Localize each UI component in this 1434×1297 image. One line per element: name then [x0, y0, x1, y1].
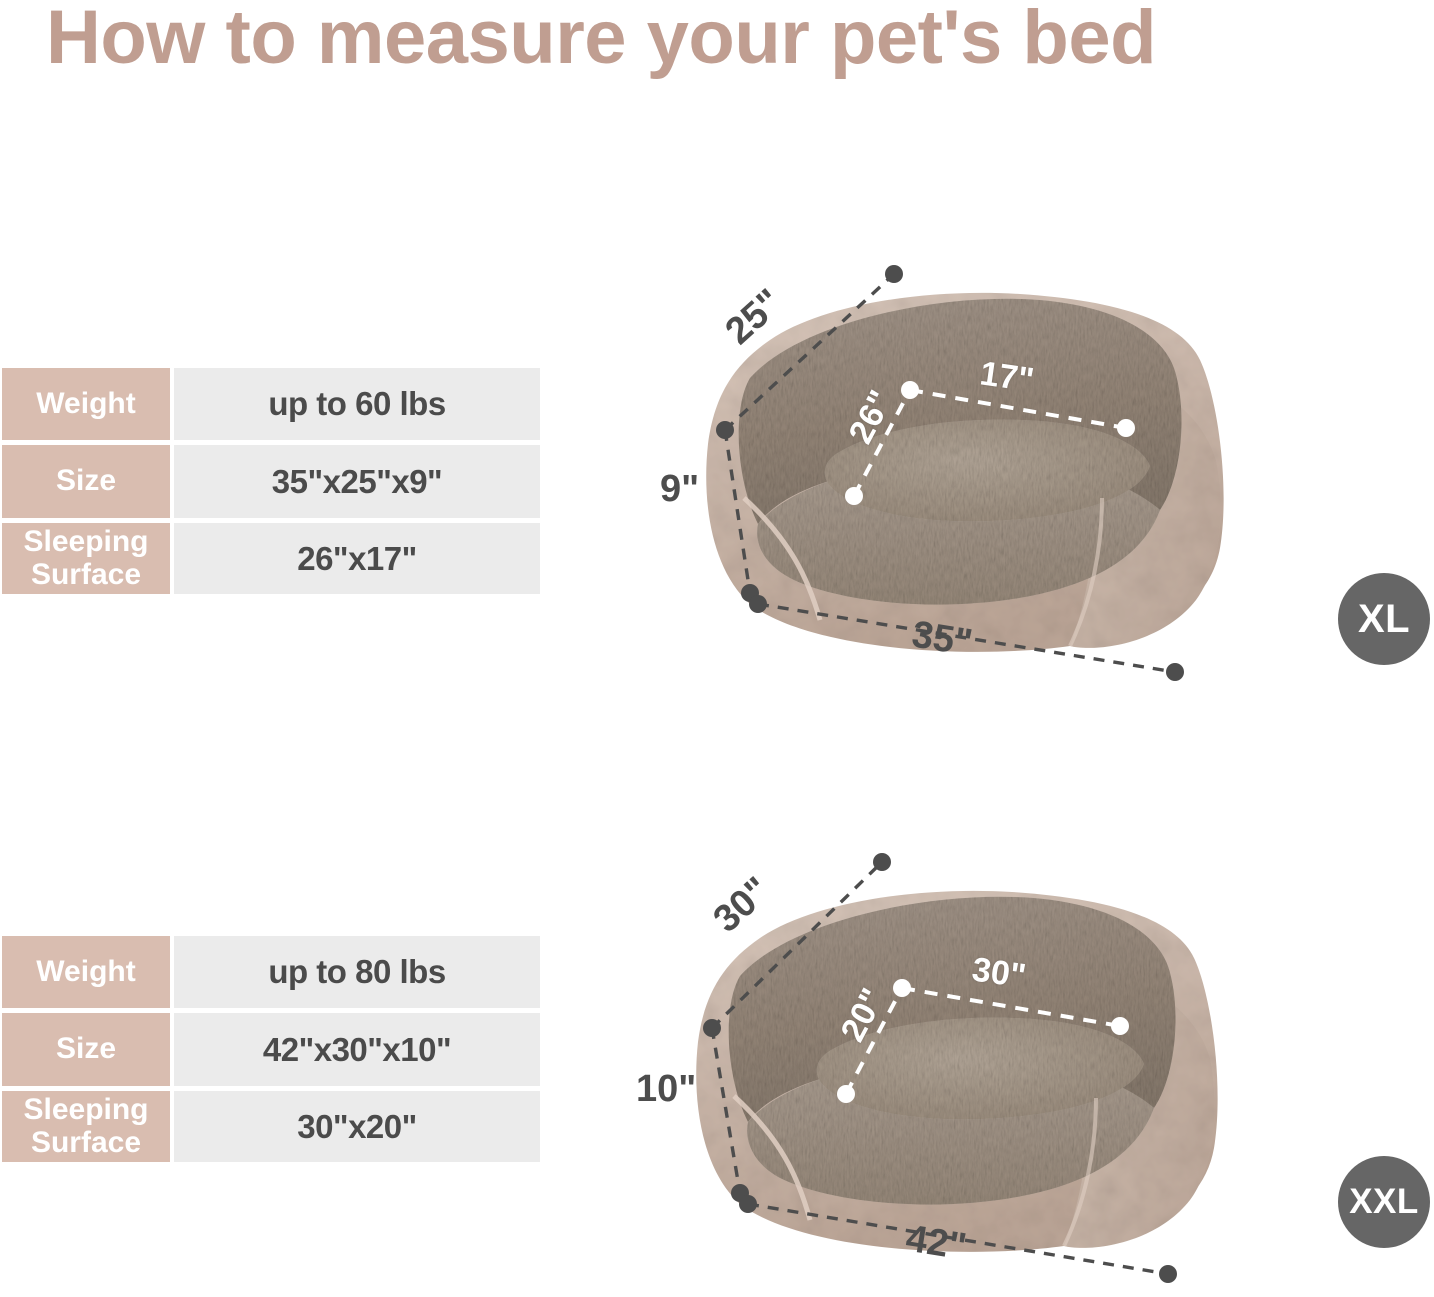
- bed-illustration-xxl: 30" 10" 42" 20" 30": [620, 838, 1300, 1288]
- row-label-size: Size: [2, 1013, 170, 1086]
- row-label-size: Size: [2, 445, 170, 518]
- row-value-sleeping-surface: 26"x17": [174, 523, 540, 594]
- row-label-weight: Weight: [2, 368, 170, 440]
- row-label-weight: Weight: [2, 936, 170, 1008]
- table-row: Weight up to 60 lbs: [2, 368, 540, 440]
- row-label-sleeping-surface: Sleeping Surface: [2, 1091, 170, 1162]
- page-title: How to measure your pet's bed: [46, 0, 1156, 80]
- table-row: Weight up to 80 lbs: [2, 936, 540, 1008]
- dimension-label-height: 9": [660, 470, 699, 508]
- dimension-label-height: 10": [636, 1070, 696, 1108]
- table-row: Size 42"x30"x10": [2, 1013, 540, 1086]
- size-badge-xxl: XXL: [1338, 1156, 1430, 1248]
- row-value-weight: up to 80 lbs: [174, 936, 540, 1008]
- dimension-label-width: 42": [903, 1220, 968, 1267]
- spec-table-xl: Weight up to 60 lbs Size 35"x25"x9" Slee…: [2, 368, 540, 599]
- table-row: Sleeping Surface 30"x20": [2, 1091, 540, 1162]
- size-badge-xl: XL: [1338, 573, 1430, 665]
- row-value-size: 42"x30"x10": [174, 1013, 540, 1086]
- dimension-label-width: 35": [909, 616, 974, 663]
- row-label-sleeping-surface: Sleeping Surface: [2, 523, 170, 594]
- bed-illustration-xl: 25" 9" 35" 26" 17": [640, 248, 1300, 688]
- row-value-weight: up to 60 lbs: [174, 368, 540, 440]
- row-value-size: 35"x25"x9": [174, 445, 540, 518]
- spec-table-xxl: Weight up to 80 lbs Size 42"x30"x10" Sle…: [2, 936, 540, 1167]
- dimension-label-sleep-width: 30": [970, 952, 1028, 993]
- dimension-label-sleep-width: 17": [978, 356, 1036, 397]
- row-value-sleeping-surface: 30"x20": [174, 1091, 540, 1162]
- table-row: Size 35"x25"x9": [2, 445, 540, 518]
- table-row: Sleeping Surface 26"x17": [2, 523, 540, 594]
